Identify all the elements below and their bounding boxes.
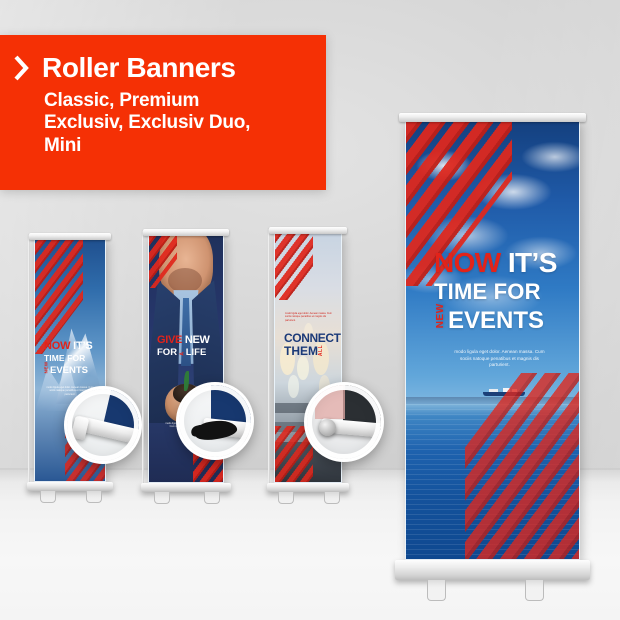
magnifier-clamp-knob bbox=[319, 419, 336, 436]
banner-large-top-rail bbox=[399, 113, 586, 122]
banner-exclusiv-top-rail bbox=[269, 227, 347, 234]
headline-them: THEM bbox=[284, 344, 318, 358]
headline-events: EVENTS bbox=[50, 365, 88, 376]
headline-all-vertical: ALL bbox=[319, 349, 324, 356]
banner-premium-foot-left bbox=[154, 492, 170, 504]
magnifier-cloth-navy-2 bbox=[211, 385, 251, 423]
banner-classic-red-stripes bbox=[34, 239, 83, 354]
banner-exclusiv-body-text: modo ligula eget dolor. Aenean massa. Cu… bbox=[285, 312, 333, 322]
banner-large-red-stripes-bottom bbox=[465, 373, 580, 560]
magnifier-base-foot-detail[interactable] bbox=[176, 382, 254, 460]
banner-large-artwork: NOW IT’S TIME FOR NEWEVENTS modo ligula … bbox=[405, 121, 580, 560]
banner-premium-red-stripes bbox=[148, 235, 177, 288]
banner-classic-pole bbox=[28, 235, 30, 483]
banner-classic-foot-right bbox=[86, 491, 102, 503]
banner-classic-headline: NOW IT’S TIME FOR NEWEVENTS bbox=[44, 341, 93, 376]
headline-its-large: IT’S bbox=[508, 247, 557, 278]
banner-exclusiv-base bbox=[267, 483, 349, 492]
headline-new-vertical-large: NEW bbox=[436, 315, 446, 329]
banner-large-headline: NOW IT’S TIME FOR NEWEVENTS bbox=[434, 248, 557, 334]
magnifier-top-rail-detail[interactable] bbox=[64, 386, 142, 464]
promo-subtitle: Classic, Premium Exclusiv, Exclusiv Duo,… bbox=[0, 82, 326, 157]
headline-time-for: TIME FOR bbox=[44, 354, 93, 363]
headline-time-for-large: TIME FOR bbox=[434, 281, 557, 304]
headline-its: IT’S bbox=[73, 340, 92, 352]
banner-large-foot-left bbox=[427, 580, 446, 601]
banner-premium-base bbox=[141, 483, 231, 492]
chevron-right-icon bbox=[14, 55, 30, 81]
banner-exclusiv-duo-large[interactable]: NOW IT’S TIME FOR NEWEVENTS modo ligula … bbox=[405, 121, 580, 560]
promo-subtitle-line-2: Exclusiv, Exclusiv Duo, bbox=[44, 112, 326, 134]
banner-large-foot-right bbox=[525, 580, 544, 601]
promo-title-row: Roller Banners bbox=[0, 35, 326, 82]
promo-subtitle-line-1: Classic, Premium bbox=[44, 90, 326, 112]
banner-exclusiv-headline: CONNECT THEMALL bbox=[284, 332, 341, 358]
banner-premium-pole bbox=[142, 231, 144, 483]
headline-now-large: NOW bbox=[434, 247, 501, 278]
headline-nect: NECT bbox=[309, 331, 340, 345]
product-hero-image: Roller Banners Classic, Premium Exclusiv… bbox=[0, 0, 620, 620]
banner-exclusiv-foot-left bbox=[278, 492, 294, 504]
banner-exclusiv-foot-right bbox=[324, 492, 340, 504]
headline-events-large: EVENTS bbox=[448, 307, 544, 334]
banner-premium-headline: GIVE NEW FOR ALIFE bbox=[157, 335, 210, 358]
headline-give: GIVE bbox=[157, 334, 182, 346]
banner-classic-top-rail bbox=[29, 233, 111, 240]
headline-new: NEW bbox=[185, 334, 210, 346]
banner-premium-top-rail bbox=[143, 229, 229, 236]
banner-large-body-text: modo ligula eget dolor. Aenean massa. Cu… bbox=[454, 349, 545, 369]
headline-for: FOR bbox=[157, 347, 177, 358]
banner-premium-foot-right bbox=[204, 492, 220, 504]
banner-exclusiv-red-stripes bbox=[274, 233, 313, 300]
headline-life: LIFE bbox=[186, 347, 207, 358]
banner-large-base bbox=[395, 560, 590, 580]
banner-exclusiv-pole bbox=[268, 229, 270, 483]
headline-con: CON bbox=[284, 331, 309, 345]
banner-classic-foot-left bbox=[40, 491, 56, 503]
headline-now: NOW bbox=[44, 340, 70, 352]
promo-title: Roller Banners bbox=[42, 54, 236, 82]
headline-new-vertical: NEW bbox=[45, 368, 50, 374]
promo-subtitle-line-3: Mini bbox=[44, 135, 326, 157]
banner-classic-base bbox=[27, 482, 113, 491]
promo-banner[interactable]: Roller Banners Classic, Premium Exclusiv… bbox=[0, 35, 326, 190]
magnifier-pole-clamp-detail[interactable] bbox=[304, 382, 384, 462]
headline-a-vertical: A bbox=[180, 350, 185, 356]
